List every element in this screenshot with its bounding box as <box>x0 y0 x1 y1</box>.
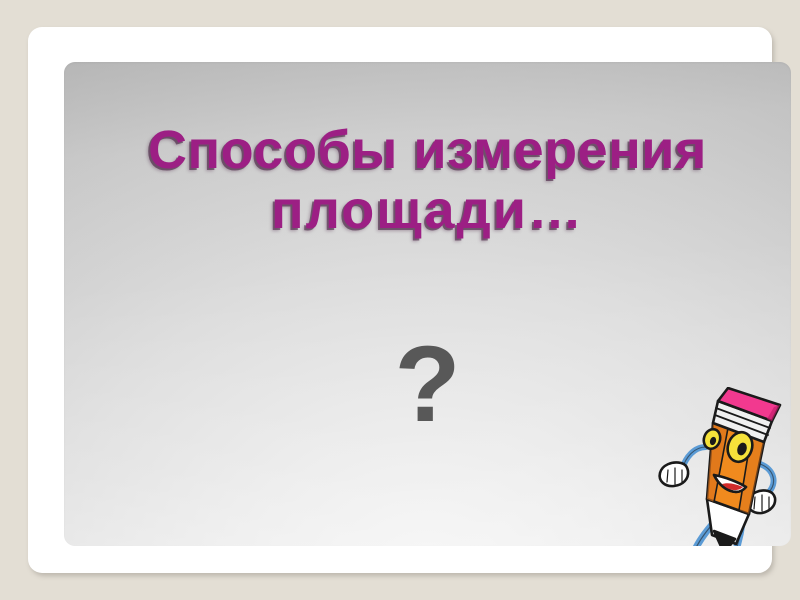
slide-card: Способы измерения площади… ? <box>28 27 772 573</box>
slide-root: Способы измерения площади… ? <box>0 0 800 600</box>
slide-title-line-1: Способы измерения <box>110 120 745 180</box>
pencil-mascot-image <box>656 387 791 546</box>
slide-title: Способы измерения площади… <box>110 120 745 240</box>
question-mark-text: ? <box>110 330 745 438</box>
slide-title-line-2: площади… <box>110 180 745 240</box>
slide-content-panel: Способы измерения площади… ? <box>64 62 791 546</box>
